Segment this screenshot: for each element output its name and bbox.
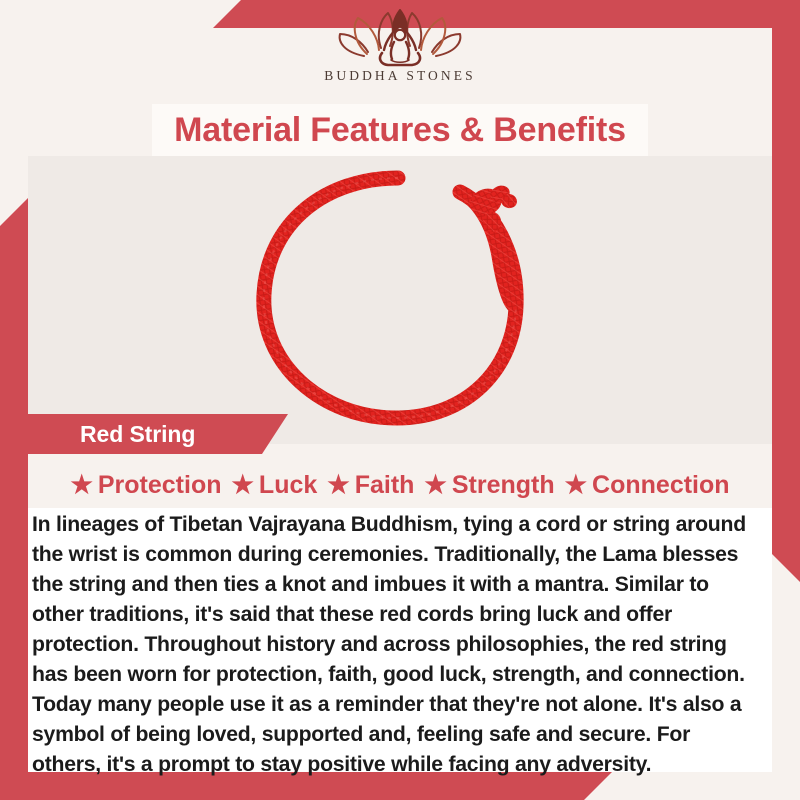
feature-luck: ★ Luck [232,471,318,500]
feature-label: Strength [452,471,555,500]
feature-strength: ★ Strength [424,471,554,500]
description-text: In lineages of Tibetan Vajrayana Buddhis… [32,510,760,780]
lotus-meditation-icon [334,6,466,70]
star-icon: ★ [565,473,587,498]
title-band: Material Features & Benefits [152,104,648,156]
brand-header: BUDDHA STONES [0,0,800,100]
star-icon: ★ [424,473,446,498]
product-label-ribbon: Red String [28,414,288,454]
brand-name: BUDDHA STONES [324,68,475,84]
description-block: In lineages of Tibetan Vajrayana Buddhis… [28,508,772,772]
feature-label: Protection [98,471,222,500]
feature-label: Faith [355,471,415,500]
feature-label: Connection [592,471,730,500]
feature-label: Luck [259,471,317,500]
feature-connection: ★ Connection [565,471,730,500]
star-icon: ★ [232,473,254,498]
star-icon: ★ [70,473,92,498]
product-image-area [28,156,772,444]
decorative-stripe-left [0,198,28,800]
feature-protection: ★ Protection [70,471,221,500]
features-row: ★ Protection ★ Luck ★ Faith ★ Strength ★… [28,462,772,508]
star-icon: ★ [327,473,349,498]
product-label-text: Red String [28,421,195,448]
infographic-poster: BUDDHA STONES Material Features & Benefi… [0,0,800,800]
page-title: Material Features & Benefits [174,111,626,150]
feature-faith: ★ Faith [327,471,414,500]
